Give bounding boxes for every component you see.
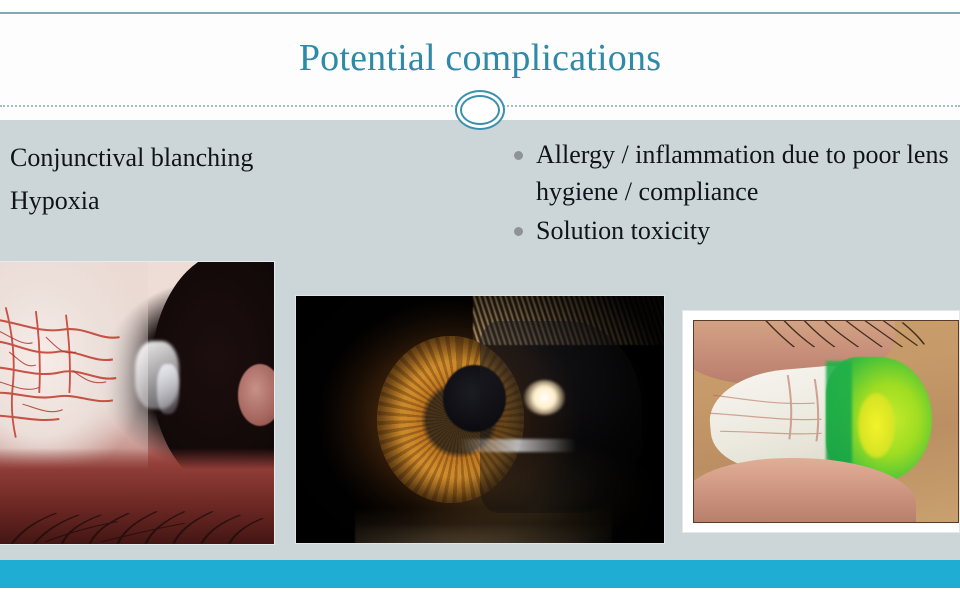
eyelash-group <box>757 320 926 385</box>
slide: Potential complications Conjunctival bla… <box>0 0 960 600</box>
conjunctival-blanching-photo <box>0 261 275 545</box>
conjunctival-vessels <box>0 285 157 471</box>
fluorescein-staining-photo <box>682 310 960 533</box>
left-text-column: Conjunctival blanching Hypoxia <box>10 136 480 222</box>
hypoxia-iris-photo <box>295 295 665 544</box>
photo-frame-inner <box>693 320 959 523</box>
footer-accent-bar <box>0 560 960 588</box>
bullet-label-1: Allergy / inflammation due to poor lens … <box>536 140 949 206</box>
fluorescein-bright-core <box>858 393 895 457</box>
right-bullet-column: Allergy / inflammation due to poor lens … <box>505 136 960 251</box>
corneal-highlight-secondary <box>157 364 179 415</box>
caruncle-region <box>238 364 275 426</box>
page-title: Potential complications <box>0 34 960 82</box>
footer-base <box>0 588 960 600</box>
bullet-dot-icon <box>514 151 523 160</box>
list-item: Solution toxicity <box>505 212 960 249</box>
list-item: Allergy / inflammation due to poor lens … <box>505 136 960 210</box>
left-line-1: Conjunctival blanching <box>10 136 480 179</box>
left-line-2: Hypoxia <box>10 179 480 222</box>
text-row: Conjunctival blanching Hypoxia Allergy /… <box>0 126 960 256</box>
eyelash-group <box>0 459 274 544</box>
bullet-dot-icon <box>514 227 523 236</box>
photo-vignette <box>296 296 664 543</box>
bullet-label-2: Solution toxicity <box>536 216 710 245</box>
ring-ornament-icon <box>455 90 505 130</box>
